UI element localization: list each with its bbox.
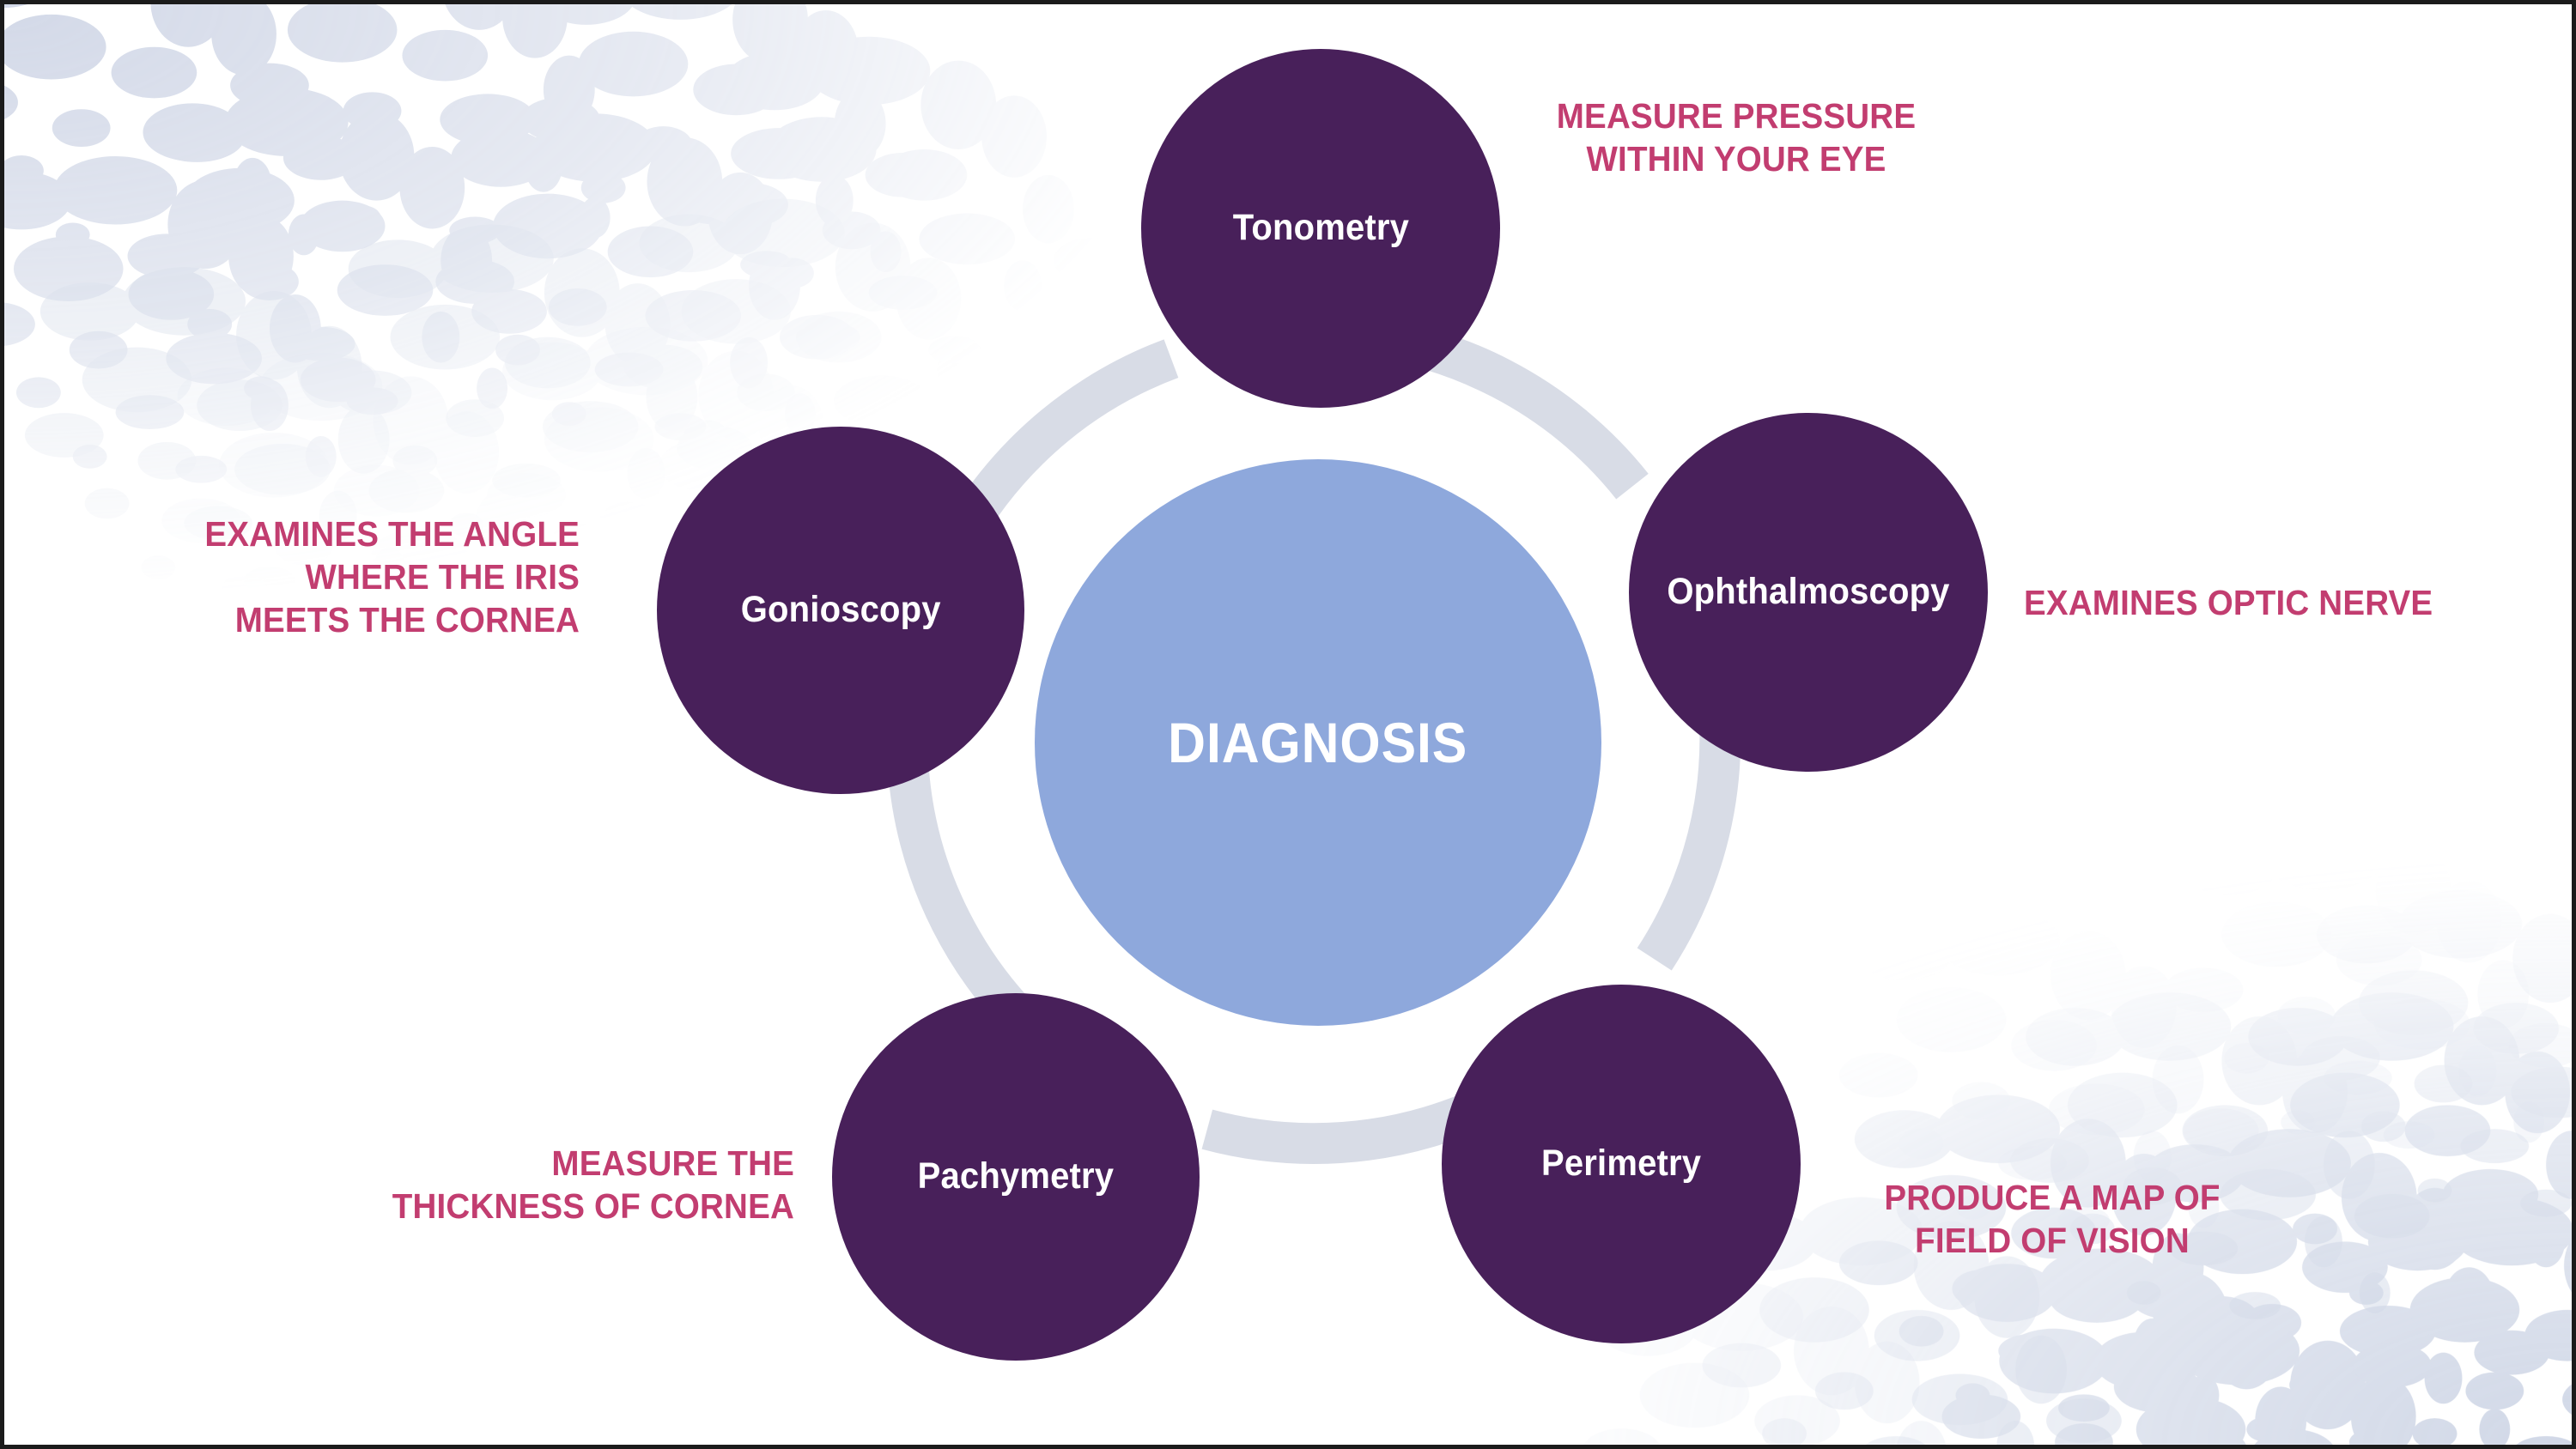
node-circle-gonioscopy[interactable]: Gonioscopy	[657, 427, 1024, 794]
node-label-ophthalmoscopy: Ophthalmoscopy	[1667, 572, 1949, 612]
node-circle-tonometry[interactable]: Tonometry	[1141, 49, 1500, 408]
caption-line: WHERE THE IRIS	[152, 555, 580, 598]
caption-line: MEASURE THE	[358, 1142, 794, 1185]
center-hub-circle[interactable]: DIAGNOSIS	[1035, 459, 1601, 1026]
caption-tonometry: MEASURE PRESSURE WITHIN YOUR EYE	[1527, 94, 1947, 180]
diagnosis-diagram-slide: DIAGNOSIS Tonometry Ophthalmoscopy Perim…	[0, 0, 2576, 1449]
node-label-perimetry: Perimetry	[1541, 1143, 1701, 1184]
caption-line: FIELD OF VISION	[1862, 1219, 2242, 1262]
node-circle-ophthalmoscopy[interactable]: Ophthalmoscopy	[1629, 413, 1988, 772]
caption-perimetry: PRODUCE A MAP OF FIELD OF VISION	[1862, 1176, 2242, 1262]
caption-line: THICKNESS OF CORNEA	[358, 1185, 794, 1228]
caption-line: MEETS THE CORNEA	[152, 598, 580, 641]
caption-line: WITHIN YOUR EYE	[1527, 137, 1947, 180]
caption-pachymetry: MEASURE THE THICKNESS OF CORNEA	[358, 1142, 794, 1228]
node-label-pachymetry: Pachymetry	[918, 1156, 1115, 1197]
node-circle-perimetry[interactable]: Perimetry	[1442, 985, 1801, 1343]
node-label-tonometry: Tonometry	[1232, 208, 1408, 248]
node-circle-pachymetry[interactable]: Pachymetry	[832, 993, 1200, 1361]
caption-line: EXAMINES OPTIC NERVE	[2024, 581, 2476, 624]
caption-line: PRODUCE A MAP OF	[1862, 1176, 2242, 1219]
caption-line: MEASURE PRESSURE	[1527, 94, 1947, 137]
caption-line: EXAMINES THE ANGLE	[152, 512, 580, 555]
caption-gonioscopy: EXAMINES THE ANGLE WHERE THE IRIS MEETS …	[152, 512, 580, 641]
node-label-gonioscopy: Gonioscopy	[741, 590, 941, 630]
center-hub-label: DIAGNOSIS	[1168, 710, 1467, 775]
caption-ophthalmoscopy: EXAMINES OPTIC NERVE	[2024, 581, 2476, 624]
